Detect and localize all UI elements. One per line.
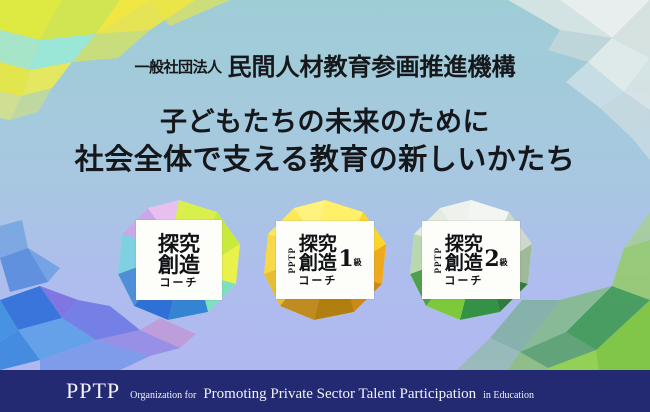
badge-1-panel: 探究 創造 コーチ: [136, 220, 222, 300]
badge-3-text: 探究 創造 コーチ: [444, 235, 483, 286]
badge-3-kanji-bottom: 創造: [445, 254, 483, 273]
headline-line-2: 社会全体で支える教育の新しいかたち: [0, 141, 650, 178]
badge-3-rank: 2 級: [484, 250, 507, 270]
presentation-slide: 一般社団法人民間人材教育参画推進機構 子どもたちの未来のために 社会全体で支える…: [0, 0, 650, 412]
badge-2-text: 探究 創造 コーチ: [298, 235, 337, 286]
badge-tankyu-sozo-coach-grade2[interactable]: PPTP 探究 創造 コーチ 2 級: [406, 196, 536, 324]
badge-2-rank-number: 1: [338, 250, 353, 270]
badge-2-pptp-label: PPTP: [288, 247, 297, 274]
badge-tankyu-sozo-coach-grade1[interactable]: PPTP 探究 創造 コーチ 1 級: [260, 196, 390, 324]
badge-3-kanji-top: 探究: [445, 235, 483, 254]
badge-tankyu-sozo-coach-base[interactable]: 探究 創造 コーチ: [114, 196, 244, 324]
badge-3-rank-number: 2: [484, 250, 499, 270]
organization-line: 一般社団法人民間人材教育参画推進機構: [0, 47, 650, 82]
slide-headline: 子どもたちの未来のために 社会全体で支える教育の新しいかたち: [0, 106, 650, 178]
organization-prefix: 一般社団法人: [134, 58, 221, 76]
badge-3-face: PPTP 探究 創造 コーチ 2 級: [406, 196, 536, 324]
badge-2-face: PPTP 探究 創造 コーチ 1 級: [260, 196, 390, 324]
footer-acronym: PPTP: [66, 378, 120, 404]
badge-1-kanji-top: 探究: [158, 233, 200, 254]
badge-2-rank: 1 級: [338, 250, 361, 270]
badge-1-katakana: コーチ: [160, 277, 199, 288]
badge-1-text: 探究 創造 コーチ: [158, 233, 200, 288]
footer-main: Promoting Private Sector Talent Particip…: [203, 386, 476, 403]
footer-tail: in Education: [483, 390, 534, 401]
organization-name: 民間人材教育参画推進機構: [228, 52, 516, 81]
footer-lead: Organization for: [130, 390, 196, 401]
badge-2-kanji-bottom: 創造: [299, 254, 337, 273]
footer-text: PPTP Organization for Promoting Private …: [66, 378, 534, 404]
headline-line-1: 子どもたちの未来のために: [0, 106, 650, 141]
badge-2-katakana: コーチ: [298, 275, 337, 286]
badge-1-face: 探究 創造 コーチ: [114, 196, 244, 324]
badge-3-pptp-label: PPTP: [434, 247, 443, 274]
badge-1-kanji-bottom: 創造: [158, 254, 200, 275]
badge-2-panel: PPTP 探究 創造 コーチ 1 級: [276, 221, 374, 299]
badge-3-rank-suffix: 級: [500, 257, 508, 268]
badge-3-katakana: コーチ: [444, 275, 483, 286]
footer-bar: PPTP Organization for Promoting Private …: [0, 370, 650, 412]
badge-3-panel: PPTP 探究 創造 コーチ 2 級: [422, 221, 520, 299]
badge-2-rank-suffix: 級: [354, 257, 362, 268]
badge-2-kanji-top: 探究: [299, 235, 337, 254]
badge-row: 探究 創造 コーチ: [0, 196, 650, 324]
